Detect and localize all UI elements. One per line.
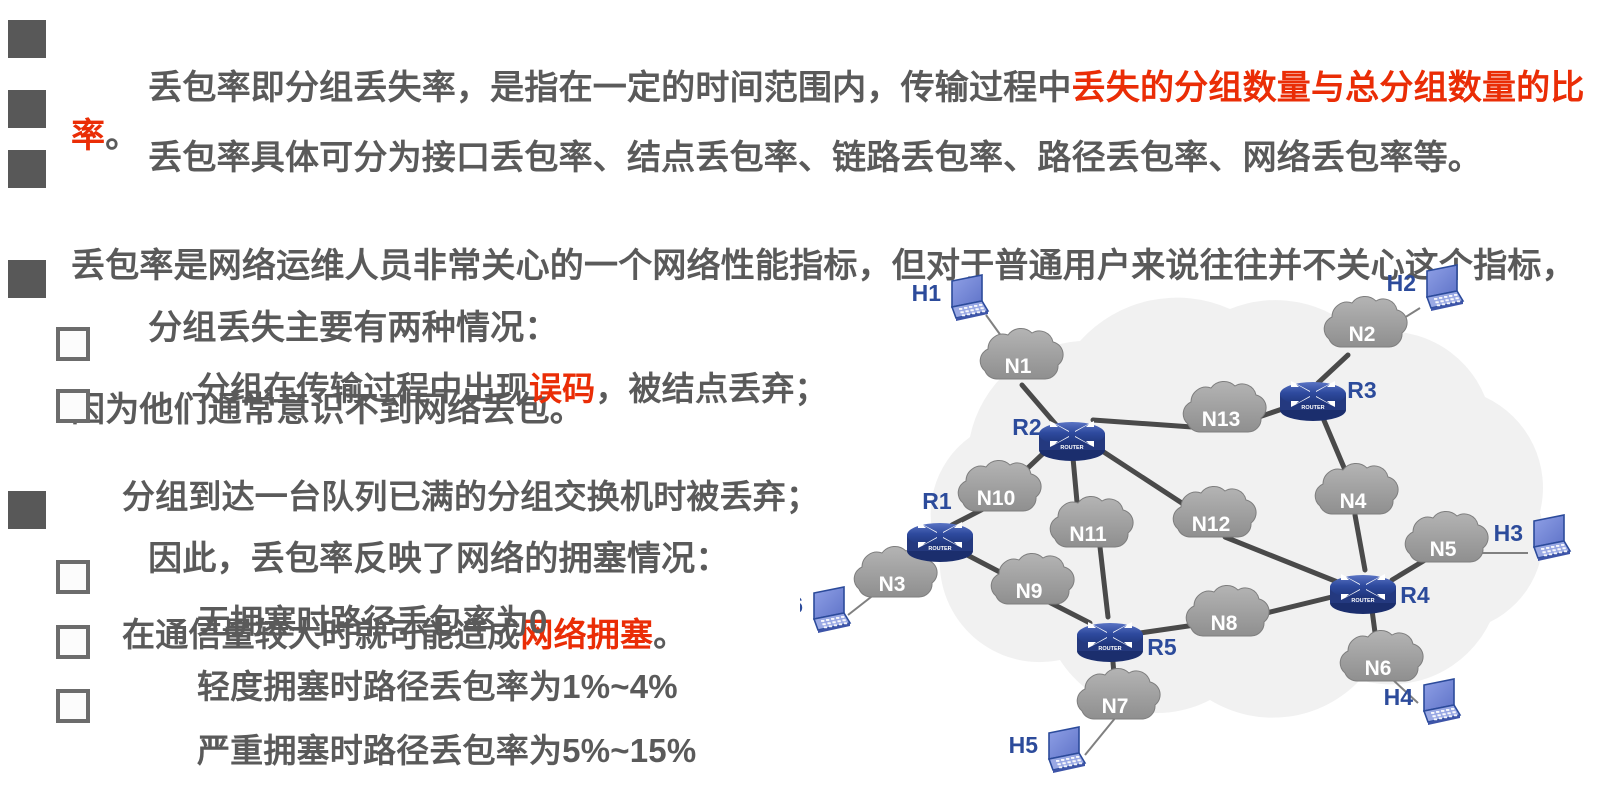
node-H6[interactable]: H6: [800, 587, 850, 633]
checkbox-item[interactable]: 严重拥塞时路径丢包率为5%~15%: [56, 682, 856, 790]
text-run: 严重拥塞时路径丢包率为5%~15%: [197, 732, 696, 769]
checkbox-label: 严重拥塞时路径丢包率为5%~15%: [122, 682, 696, 790]
node-label-H2: H2: [1387, 270, 1416, 296]
node-H4[interactable]: H4: [1384, 679, 1460, 725]
node-label-H3: H3: [1494, 520, 1523, 546]
node-label-N7: N7: [1102, 695, 1129, 718]
node-label-N13: N13: [1202, 408, 1241, 431]
link-N7-H5: [1085, 717, 1116, 755]
checkbox-icon[interactable]: [56, 689, 90, 723]
square-bullet-icon: [8, 491, 46, 529]
node-H1[interactable]: H1: [912, 275, 988, 321]
checkbox-icon[interactable]: [56, 625, 90, 659]
node-label-H5: H5: [1009, 732, 1039, 758]
node-label-R1: R1: [922, 488, 952, 514]
node-label-H4: H4: [1384, 684, 1414, 710]
node-label-R5: R5: [1147, 634, 1177, 660]
node-label-N5: N5: [1430, 538, 1457, 561]
node-N1[interactable]: N1: [980, 328, 1063, 379]
node-label-N6: N6: [1365, 657, 1392, 680]
node-N2[interactable]: N2: [1324, 296, 1407, 347]
node-label-N10: N10: [977, 487, 1016, 510]
node-label-N2: N2: [1349, 323, 1376, 346]
node-H5[interactable]: H5: [1009, 727, 1085, 773]
node-label-R4: R4: [1400, 582, 1430, 608]
node-label-H6: H6: [800, 592, 803, 618]
node-label-N8: N8: [1211, 612, 1238, 635]
node-label-N3: N3: [879, 573, 906, 596]
checkbox-icon[interactable]: [56, 389, 90, 423]
network-topology-diagram: ROUTER: [800, 255, 1612, 790]
node-label-N4: N4: [1340, 490, 1367, 513]
node-H2[interactable]: H2: [1387, 265, 1463, 311]
square-bullet-icon: [8, 90, 46, 128]
node-label-N1: N1: [1005, 355, 1032, 378]
node-label-R3: R3: [1347, 377, 1376, 403]
slide-root: 丢包率即分组丢失率，是指在一定的时间范围内，传输过程中丢失的分组数量与总分组数量…: [0, 0, 1612, 790]
square-bullet-icon: [8, 260, 46, 298]
node-label-R2: R2: [1012, 414, 1041, 440]
node-label-H1: H1: [912, 280, 942, 306]
checkbox-icon[interactable]: [56, 560, 90, 594]
square-bullet-icon: [8, 20, 46, 58]
checkbox-icon[interactable]: [56, 327, 90, 361]
square-bullet-icon: [8, 150, 46, 188]
node-label-N12: N12: [1192, 513, 1231, 536]
node-label-N9: N9: [1016, 580, 1043, 603]
node-label-N11: N11: [1069, 523, 1107, 546]
